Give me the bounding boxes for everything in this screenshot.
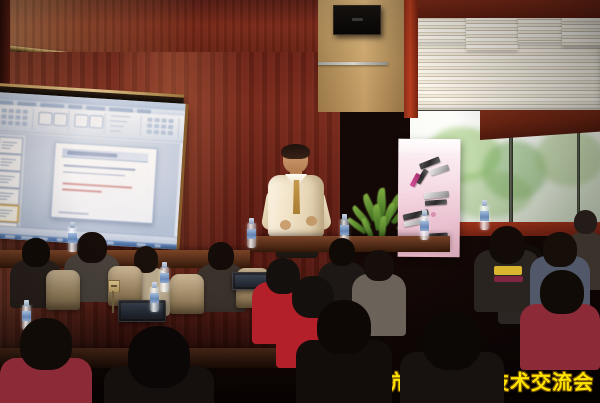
bottle-label (160, 273, 169, 283)
audience-member-foreground (0, 318, 92, 403)
person-head (543, 232, 577, 267)
blinds-headrail (410, 0, 600, 18)
ribbon-icon[interactable] (168, 125, 173, 129)
thumbnail-line (1, 158, 16, 160)
banner-product (424, 191, 449, 199)
slide-accent-line (62, 182, 133, 188)
ribbon-icon[interactable] (168, 131, 173, 135)
slide-accent-line (62, 188, 102, 192)
ribbon-button[interactable] (89, 115, 104, 129)
projection-screen[interactable] (0, 92, 186, 250)
slide-footer-line (58, 211, 88, 215)
slide-body-line (63, 165, 136, 171)
ribbon-icon[interactable] (1, 114, 6, 118)
ribbon-icon[interactable] (22, 116, 27, 120)
power-outlet (108, 280, 120, 293)
audience-member-foreground (104, 326, 214, 403)
bottle-label (420, 221, 429, 231)
slide-thumbnail-selected[interactable] (0, 204, 19, 222)
slide-thumbnail[interactable] (0, 170, 21, 188)
bottle-label (340, 225, 349, 235)
ribbon-icon[interactable] (8, 115, 13, 119)
water-bottle (247, 218, 256, 248)
ribbon-icon[interactable] (9, 109, 14, 113)
bottle-label (68, 233, 77, 243)
thumbnail-line (0, 181, 8, 183)
presenter-hand-left (280, 220, 291, 230)
ribbon-icon[interactable] (147, 130, 152, 134)
water-bottle (68, 222, 77, 252)
thumbnail-line (0, 212, 9, 214)
chair (46, 270, 80, 310)
banner-header (398, 139, 460, 154)
audience-member-foreground (400, 312, 504, 403)
bottle-cap (422, 210, 426, 216)
bottle-label (480, 211, 489, 221)
thumbnail-line (0, 215, 6, 217)
person-head (77, 232, 106, 263)
wall-handrail (318, 62, 388, 65)
ribbon-icon[interactable] (1, 120, 6, 124)
ribbon-button[interactable] (38, 112, 53, 126)
person-head (423, 312, 481, 370)
bottle-cap (162, 262, 166, 268)
thumbnail-line (0, 192, 14, 194)
jacket-logo-patch (494, 266, 522, 275)
ribbon-icon[interactable] (161, 118, 166, 122)
person-head (489, 226, 526, 264)
chair (170, 274, 204, 314)
slide-thumbnail[interactable] (0, 187, 20, 205)
person-head (540, 270, 584, 314)
slide-stage (22, 134, 181, 236)
thumbnail-line (0, 198, 7, 200)
ribbon-icon[interactable] (16, 109, 21, 113)
person-head (22, 238, 49, 267)
ribbon-icon[interactable] (154, 130, 159, 134)
thumbnail-line (0, 195, 10, 197)
wall-speaker-icon (333, 5, 381, 35)
ribbon-icon[interactable] (2, 108, 7, 112)
thumbnail-line (2, 141, 17, 143)
slide-body-line (63, 171, 126, 177)
bottle-cap (249, 218, 253, 224)
person-head (364, 250, 394, 281)
person-head (208, 242, 234, 270)
foliage-blob (535, 130, 600, 187)
audience-member-foreground (296, 300, 392, 403)
current-slide (50, 141, 158, 224)
banner-dot (431, 212, 436, 217)
thumbnail-line (0, 164, 9, 166)
ribbon-icon[interactable] (154, 118, 159, 122)
thumbnail-line (0, 178, 12, 180)
ribbon-icon[interactable] (154, 124, 159, 128)
bottle-cap (342, 214, 346, 220)
presenter-hand-right (306, 216, 317, 226)
person-head (574, 210, 597, 234)
jacket-logo-band (494, 276, 523, 282)
ribbon-icon[interactable] (23, 110, 28, 114)
presenter-hair (281, 144, 310, 159)
ribbon-icon[interactable] (8, 121, 13, 125)
water-bottle (160, 262, 169, 292)
ribbon-icon[interactable] (147, 118, 152, 122)
bottle-cap (482, 200, 486, 206)
thumbnail-line (0, 209, 13, 211)
water-bottle (420, 210, 429, 240)
ribbon-icon[interactable] (168, 119, 173, 123)
ribbon-icon[interactable] (15, 121, 20, 125)
ribbon-icon[interactable] (161, 130, 166, 134)
bottle-cap (152, 282, 156, 288)
bottle-cap (24, 300, 28, 306)
slide-thumbnail[interactable] (0, 136, 23, 154)
conference-photo: 莱盛（杭州明亚）技术交流会 (0, 0, 600, 403)
bottle-label (150, 293, 159, 303)
banner-product (425, 200, 448, 207)
presentation-window (0, 92, 186, 250)
ribbon-icon[interactable] (22, 122, 27, 126)
ribbon-icon[interactable] (15, 115, 20, 119)
ribbon-button[interactable] (53, 113, 68, 127)
outlet-cord (112, 291, 114, 313)
ribbon-icon[interactable] (147, 124, 152, 128)
ribbon-icon[interactable] (161, 124, 166, 128)
person-head (20, 318, 72, 370)
slide-header-bar (62, 148, 149, 163)
water-bottle (150, 282, 159, 312)
person-head (128, 326, 190, 388)
thumbnail-line (2, 144, 14, 146)
red-pillar (404, 0, 418, 118)
bottle-label (247, 229, 256, 239)
thumbnail-line (1, 161, 13, 163)
presenter-tie (293, 180, 300, 214)
audience-member-pink-top (520, 270, 600, 370)
thumbnail-line (0, 175, 15, 177)
bottle-cap (70, 222, 74, 228)
banner-product (430, 165, 450, 176)
thumbnail-line (1, 147, 10, 149)
ribbon-button[interactable] (74, 114, 89, 128)
person-head (317, 300, 371, 354)
slide-thumbnail[interactable] (0, 153, 22, 171)
